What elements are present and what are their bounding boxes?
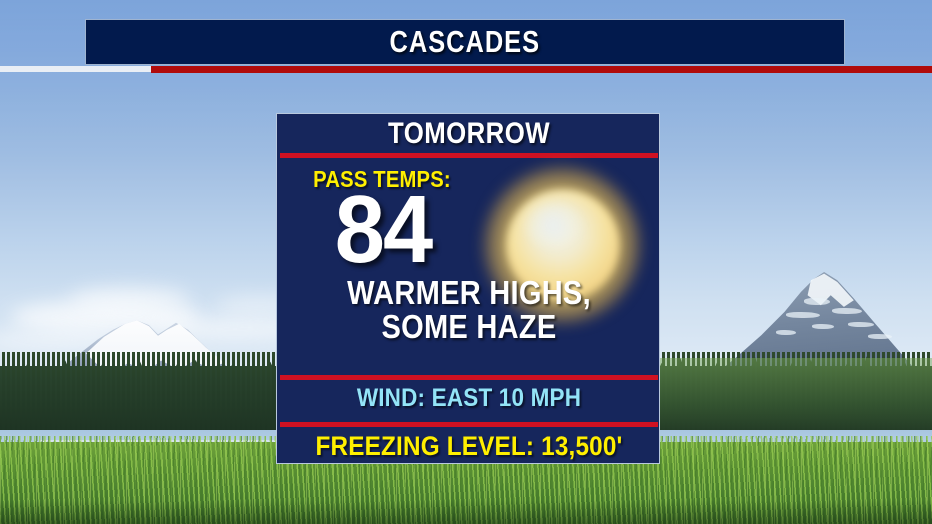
- divider-wind: [280, 375, 658, 380]
- sun-highlight: [525, 204, 581, 246]
- banner-white-stripe: [0, 66, 151, 72]
- wind-text: WIND: EAST 10 MPH: [296, 384, 642, 413]
- conditions-line-2: SOME HAZE: [300, 310, 638, 344]
- conditions-line-1: WARMER HIGHS,: [300, 276, 638, 310]
- forecast-day-label: TOMORROW: [304, 117, 634, 151]
- region-banner: CASCADES: [85, 19, 845, 65]
- banner-title: CASCADES: [390, 24, 541, 60]
- freezing-level-text: FREEZING LEVEL: 13,500': [296, 431, 642, 462]
- grass-shadow: [0, 500, 932, 524]
- cloud: [70, 286, 190, 312]
- divider-freezing: [280, 422, 658, 427]
- pass-temp-value: 84: [291, 182, 475, 278]
- forecast-panel: TOMORROW PASS TEMPS: 84 WARMER HIGHS, SO…: [276, 113, 660, 464]
- conditions-text: WARMER HIGHS, SOME HAZE: [300, 276, 638, 345]
- banner-red-stripe: [151, 66, 932, 73]
- weather-graphic: CASCADES TOMORROW PASS TEMPS: 84 WARMER …: [0, 0, 932, 524]
